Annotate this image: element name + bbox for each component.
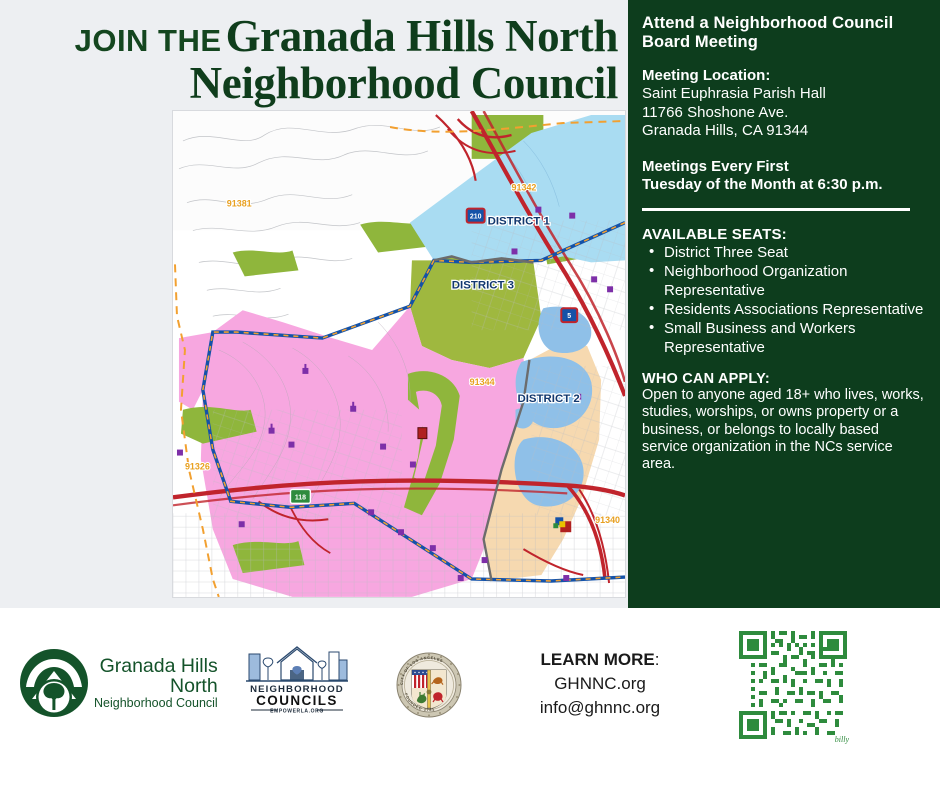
ghnnc-logo-line-2: North	[94, 676, 218, 696]
list-item: • Residents Associations Representative	[642, 301, 924, 319]
info-panel: Attend a Neighborhood Council Board Meet…	[628, 0, 940, 608]
map-label-district-2: DISTRICT 2	[517, 393, 579, 405]
highway-shield-210: 210	[467, 209, 485, 223]
map-zip-91344: 91344	[470, 377, 495, 387]
meeting-location-line-1: Saint Euphrasia Parish Hall	[642, 85, 924, 103]
learn-more-colon: :	[655, 650, 660, 669]
empowerla-line-2: COUNCILS	[256, 693, 338, 708]
panel-divider	[642, 208, 910, 211]
ghnnc-logo[interactable]: Granada Hills North Neighborhood Council	[18, 644, 218, 722]
who-can-apply-body: Open to anyone aged 18+ who lives, works…	[642, 387, 924, 474]
empowerla-line-3: EMPOWERLA.ORG	[270, 709, 324, 715]
available-seats-heading: AVAILABLE SEATS:	[642, 226, 924, 243]
ghnnc-mark-icon	[18, 647, 90, 719]
bullet-icon: •	[649, 300, 654, 318]
website-link[interactable]: GHNNC.org	[490, 672, 710, 696]
meeting-location-block: Meeting Location: Saint Euphrasia Parish…	[642, 67, 924, 140]
map-zip-91340: 91340	[595, 515, 620, 525]
who-can-apply-heading: WHO CAN APPLY:	[642, 371, 924, 387]
meeting-schedule: Meetings Every First Tuesday of the Mont…	[642, 158, 924, 194]
bullet-icon: •	[649, 319, 654, 337]
map-svg: 210 5 118 91381 91342 91344 91326 91340 …	[173, 111, 625, 597]
page-title: JOIN THE Granada Hills North Neighborhoo…	[0, 14, 626, 106]
los-angeles-city-seal[interactable]: CITY OF LOS ANGELES FOUNDED 1781	[396, 652, 462, 718]
list-item: • District Three Seat	[642, 244, 924, 262]
list-item: • Small Business and Workers Representat…	[642, 320, 924, 357]
empowerla-logo[interactable]: NEIGHBORHOOD COUNCILS EMPOWERLA.ORG	[243, 644, 351, 714]
seat-label: Small Business and Workers Representativ…	[664, 320, 855, 355]
headline-prefix: JOIN THE	[75, 23, 222, 58]
headline-line1: Granada Hills North	[226, 11, 618, 61]
flyer-root: JOIN THE Granada Hills North Neighborhoo…	[0, 0, 940, 788]
headline-line2: Neighborhood Council	[190, 58, 618, 108]
panel-title: Attend a Neighborhood Council Board Meet…	[642, 14, 924, 52]
meeting-location-line-2: 11766 Shoshone Ave.	[642, 104, 924, 122]
neighborhood-councils-mark-icon: NEIGHBORHOOD COUNCILS EMPOWERLA.ORG	[243, 644, 351, 714]
list-item: • Neighborhood Organization Representati…	[642, 263, 924, 300]
map-zip-91381: 91381	[227, 199, 252, 209]
meeting-schedule-line-1: Meetings Every First	[642, 158, 924, 176]
city-seal-icon: CITY OF LOS ANGELES FOUNDED 1781	[396, 652, 462, 718]
qr-code-icon	[735, 627, 851, 743]
ghnnc-logo-line-3: Neighborhood Council	[94, 697, 218, 710]
learn-more-label: LEARN MORE	[540, 650, 654, 669]
meeting-location-heading: Meeting Location:	[642, 67, 924, 85]
map-zip-91326: 91326	[185, 461, 210, 471]
civic-marker	[418, 428, 427, 439]
available-seats-list: • District Three Seat • Neighborhood Org…	[642, 244, 924, 357]
svg-text:5: 5	[567, 313, 571, 320]
district-map[interactable]: 210 5 118 91381 91342 91344 91326 91340 …	[172, 110, 626, 598]
bullet-icon: •	[649, 243, 654, 261]
meeting-location-line-3: Granada Hills, CA 91344	[642, 122, 924, 140]
highway-shield-5: 5	[561, 308, 577, 322]
seat-label: District Three Seat	[664, 244, 788, 261]
seat-label: Neighborhood Organization Representative	[664, 263, 847, 298]
bullet-icon: •	[649, 262, 654, 280]
meeting-schedule-line-2: Tuesday of the Month at 6:30 p.m.	[642, 176, 924, 194]
ghnnc-logo-text: Granada Hills North Neighborhood Council	[94, 656, 218, 710]
qr-signature: billy	[835, 735, 849, 744]
map-label-district-1: DISTRICT 1	[488, 216, 551, 228]
email-link[interactable]: info@ghnnc.org	[490, 696, 710, 720]
learn-more-heading: LEARN MORE:	[490, 648, 710, 672]
map-label-district-3: DISTRICT 3	[452, 279, 514, 291]
svg-text:210: 210	[470, 214, 482, 221]
learn-more-block: LEARN MORE: GHNNC.org info@ghnnc.org	[490, 648, 710, 720]
ghnnc-logo-line-1: Granada Hills	[94, 656, 218, 676]
map-zip-91342: 91342	[512, 183, 537, 193]
highway-shield-118: 118	[290, 489, 310, 503]
qr-code[interactable]: billy	[735, 627, 851, 743]
svg-text:118: 118	[295, 494, 306, 501]
seat-label: Residents Associations Representative	[664, 301, 923, 318]
